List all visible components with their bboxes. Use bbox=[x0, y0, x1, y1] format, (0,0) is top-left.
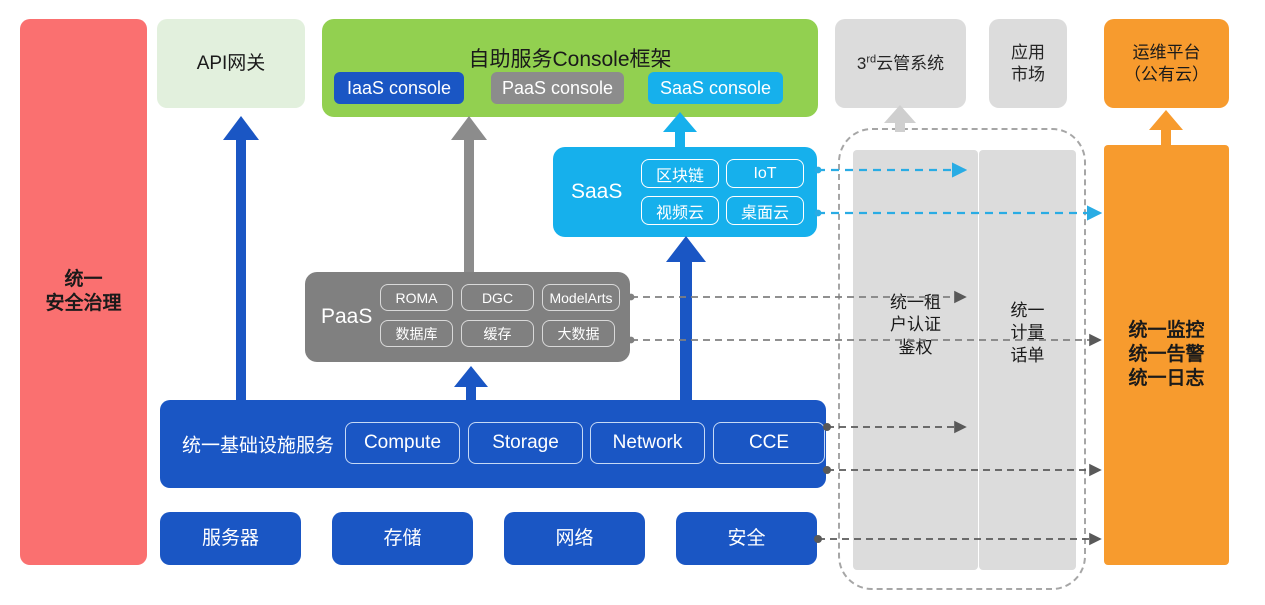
paas-pill-cache[interactable]: 缓存 bbox=[461, 320, 534, 347]
infra-pill-network-label: Network bbox=[613, 432, 683, 454]
saas-pill-iot-label: IoT bbox=[753, 165, 776, 183]
security-governance-line2: 安全治理 bbox=[45, 292, 121, 316]
app-market-text: 应用 市场 bbox=[1011, 42, 1045, 85]
hardware-box-network[interactable]: 网络 bbox=[504, 512, 645, 565]
infra-pill-network[interactable]: Network bbox=[590, 422, 705, 464]
hardware-box-security[interactable]: 安全 bbox=[676, 512, 817, 565]
unified-tenant-auth-text: 统一租 户认证 鉴权 bbox=[853, 292, 978, 359]
paas-pill-modelarts-label: ModelArts bbox=[549, 290, 612, 306]
unified-tenant-auth-column: 统一租 户认证 鉴权 bbox=[853, 150, 978, 570]
ops-platform-top-box[interactable]: 运维平台 （公有云） bbox=[1104, 19, 1229, 108]
paas-pill-roma-label: ROMA bbox=[396, 290, 438, 306]
arrow-infra-to-paas bbox=[454, 366, 488, 400]
saas-pill-blockchain[interactable]: 区块链 bbox=[641, 159, 719, 188]
unified-metering-column: 统一 计量 话单 bbox=[979, 150, 1076, 570]
paas-pill-dgc-label: DGC bbox=[482, 290, 513, 306]
paas-pill-bigdata-label: 大数据 bbox=[558, 324, 600, 344]
security-governance-text: 统一 安全治理 bbox=[45, 268, 121, 316]
saas-console-chip[interactable]: SaaS console bbox=[648, 72, 783, 104]
third-party-cloud-mgmt-label: 3rd云管系统 bbox=[857, 53, 944, 74]
infra-pill-compute-label: Compute bbox=[364, 432, 441, 454]
infra-pill-storage[interactable]: Storage bbox=[468, 422, 583, 464]
hardware-box-storage[interactable]: 存储 bbox=[332, 512, 473, 565]
arrow-saas-to-saas-console bbox=[663, 112, 697, 147]
console-framework-title: 自助服务Console框架 bbox=[322, 43, 818, 73]
app-market-line1: 应用 bbox=[1011, 42, 1045, 63]
hardware-label-security: 安全 bbox=[727, 527, 765, 551]
unified-infrastructure-bar: 统一基础设施服务 Compute Storage Network CCE bbox=[160, 400, 826, 488]
unified-infrastructure-label: 统一基础设施服务 bbox=[182, 431, 334, 458]
paas-console-label: PaaS console bbox=[502, 78, 613, 99]
paas-pill-database[interactable]: 数据库 bbox=[380, 320, 453, 347]
tenant-auth-line1: 统一租 bbox=[853, 292, 978, 314]
saas-pill-videocloud[interactable]: 视频云 bbox=[641, 196, 719, 225]
saas-pill-iot[interactable]: IoT bbox=[726, 159, 804, 188]
paas-block-label: PaaS bbox=[321, 305, 372, 329]
iaas-console-label: IaaS console bbox=[347, 78, 451, 99]
architecture-diagram: 统一 安全治理 API网关 自助服务Console框架 IaaS console… bbox=[0, 0, 1265, 605]
paas-pill-dgc[interactable]: DGC bbox=[461, 284, 534, 311]
paas-pill-cache-label: 缓存 bbox=[484, 324, 512, 344]
infra-pill-compute[interactable]: Compute bbox=[345, 422, 460, 464]
hardware-box-server[interactable]: 服务器 bbox=[160, 512, 301, 565]
ops-platform-panel: 统一监控 统一告警 统一日志 bbox=[1104, 145, 1229, 565]
hardware-label-storage: 存储 bbox=[383, 527, 421, 551]
security-governance-panel: 统一 安全治理 bbox=[20, 19, 147, 565]
ops-panel-line3: 统一日志 bbox=[1128, 367, 1204, 391]
paas-pill-database-label: 数据库 bbox=[396, 324, 438, 344]
metering-line2: 计量 bbox=[979, 322, 1076, 344]
paas-pill-modelarts[interactable]: ModelArts bbox=[542, 284, 620, 311]
saas-block: SaaS 区块链 IoT 视频云 桌面云 bbox=[553, 147, 817, 237]
arrow-infra-to-api-gateway bbox=[223, 116, 259, 400]
saas-pill-desktopcloud[interactable]: 桌面云 bbox=[726, 196, 804, 225]
ops-platform-top-line2: （公有云） bbox=[1124, 64, 1209, 85]
metering-line1: 统一 bbox=[979, 300, 1076, 322]
paas-pill-roma[interactable]: ROMA bbox=[380, 284, 453, 311]
api-gateway-box[interactable]: API网关 bbox=[157, 19, 305, 108]
ops-platform-panel-text: 统一监控 统一告警 统一日志 bbox=[1128, 319, 1204, 390]
arrow-paas-to-console bbox=[451, 116, 487, 272]
hardware-label-network: 网络 bbox=[555, 527, 593, 551]
saas-block-label: SaaS bbox=[571, 180, 622, 204]
arrow-ops-panel-to-ops-top bbox=[1149, 110, 1183, 147]
infra-pill-storage-label: Storage bbox=[492, 432, 559, 454]
arrow-infra-to-saas bbox=[666, 236, 706, 400]
infra-pill-cce-label: CCE bbox=[749, 432, 789, 454]
metering-line3: 话单 bbox=[979, 345, 1076, 367]
iaas-console-chip[interactable]: IaaS console bbox=[334, 72, 464, 104]
infra-pill-cce[interactable]: CCE bbox=[713, 422, 825, 464]
ops-panel-line2: 统一告警 bbox=[1128, 343, 1204, 367]
hardware-label-server: 服务器 bbox=[202, 527, 259, 551]
api-gateway-label: API网关 bbox=[197, 52, 266, 76]
third-party-cloud-mgmt-box[interactable]: 3rd云管系统 bbox=[835, 19, 966, 108]
tenant-auth-line2: 户认证 bbox=[853, 314, 978, 336]
app-market-line2: 市场 bbox=[1011, 64, 1045, 85]
console-framework-panel: 自助服务Console框架 IaaS console PaaS console … bbox=[322, 19, 818, 117]
saas-pill-desktopcloud-label: 桌面云 bbox=[741, 199, 789, 223]
ops-platform-top-line1: 运维平台 bbox=[1124, 42, 1209, 63]
ops-panel-line1: 统一监控 bbox=[1128, 319, 1204, 343]
tenant-auth-line3: 鉴权 bbox=[853, 337, 978, 359]
paas-pill-bigdata[interactable]: 大数据 bbox=[542, 320, 615, 347]
ops-platform-top-text: 运维平台 （公有云） bbox=[1124, 42, 1209, 85]
paas-console-chip[interactable]: PaaS console bbox=[491, 72, 624, 104]
app-market-box[interactable]: 应用 市场 bbox=[989, 19, 1067, 108]
unified-metering-text: 统一 计量 话单 bbox=[979, 300, 1076, 367]
security-governance-line1: 统一 bbox=[45, 268, 121, 292]
saas-pill-videocloud-label: 视频云 bbox=[656, 199, 704, 223]
saas-console-label: SaaS console bbox=[660, 78, 771, 99]
paas-block: PaaS ROMA DGC ModelArts 数据库 缓存 大数据 bbox=[305, 272, 630, 362]
saas-pill-blockchain-label: 区块链 bbox=[656, 162, 704, 186]
